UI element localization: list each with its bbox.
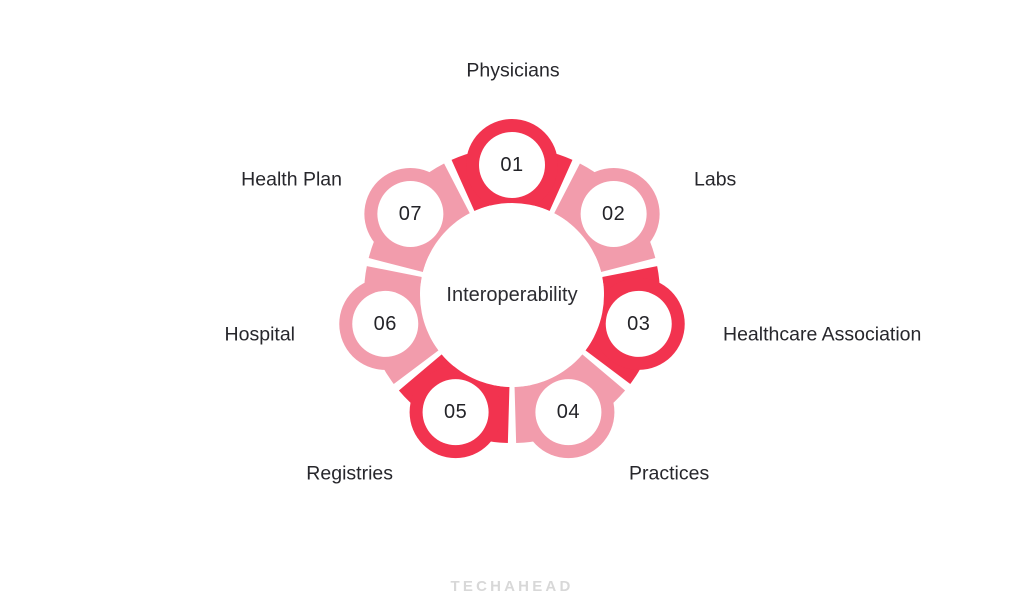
segment-label-01[interactable]: Physicians bbox=[466, 60, 559, 83]
segment-number-06: 06 bbox=[374, 313, 397, 335]
hub-label: Interoperability bbox=[446, 284, 577, 306]
segment-number-05: 05 bbox=[444, 401, 467, 423]
segment-label-04[interactable]: Practices bbox=[629, 463, 709, 486]
watermark-techahead: TECHAHEAD bbox=[0, 578, 1024, 595]
segment-number-01: 01 bbox=[500, 154, 523, 176]
segment-label-03[interactable]: Healthcare Association bbox=[723, 324, 921, 347]
segment-label-07[interactable]: Health Plan bbox=[241, 169, 342, 192]
segment-label-06[interactable]: Hospital bbox=[225, 324, 295, 347]
diagram-stage: 01020304050607 Interoperability Physicia… bbox=[0, 0, 1024, 609]
segment-number-03: 03 bbox=[627, 313, 650, 335]
segment-number-07: 07 bbox=[399, 203, 422, 225]
segment-label-02[interactable]: Labs bbox=[694, 169, 736, 192]
segment-number-04: 04 bbox=[557, 401, 580, 423]
segment-number-02: 02 bbox=[602, 203, 625, 225]
interoperability-wheel: 01020304050607 Interoperability bbox=[0, 0, 1024, 609]
segment-label-05[interactable]: Registries bbox=[306, 463, 393, 486]
